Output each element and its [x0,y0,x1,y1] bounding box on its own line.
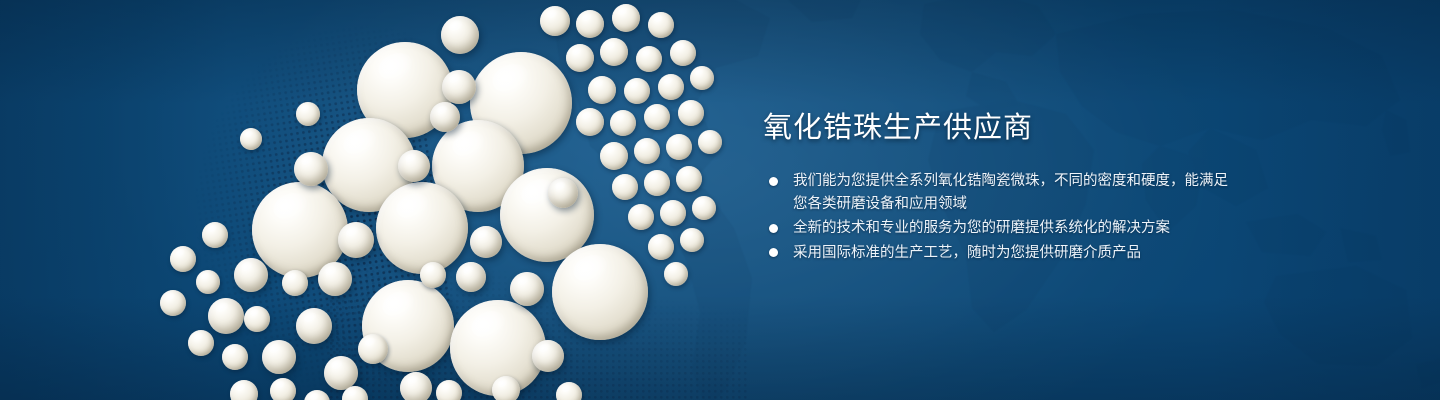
bullet-dot-icon [769,248,778,257]
zirconia-beads-image [0,0,780,400]
bullet-dot-icon [769,177,778,186]
feature-list: 我们能为您提供全系列氧化锆陶瓷微珠，不同的密度和硬度，能满足您各类研磨设备和应用… [765,170,1235,264]
list-item-label: 我们能为您提供全系列氧化锆陶瓷微珠，不同的密度和硬度，能满足您各类研磨设备和应用… [793,170,1235,215]
bullet-dot-icon [769,224,778,233]
list-item: 全新的技术和专业的服务为您的研磨提供系统化的解决方案 [765,217,1235,240]
list-item-label: 采用国际标准的生产工艺，随时为您提供研磨介质产品 [793,242,1235,265]
hero-banner: 氧化锆珠生产供应商 我们能为您提供全系列氧化锆陶瓷微珠，不同的密度和硬度，能满足… [0,0,1440,400]
page-title: 氧化锆珠生产供应商 [763,110,1033,146]
banner-content: 氧化锆珠生产供应商 我们能为您提供全系列氧化锆陶瓷微珠，不同的密度和硬度，能满足… [763,0,1283,400]
list-item: 采用国际标准的生产工艺，随时为您提供研磨介质产品 [765,242,1235,265]
list-item-label: 全新的技术和专业的服务为您的研磨提供系统化的解决方案 [793,217,1235,240]
list-item: 我们能为您提供全系列氧化锆陶瓷微珠，不同的密度和硬度，能满足您各类研磨设备和应用… [765,170,1235,215]
